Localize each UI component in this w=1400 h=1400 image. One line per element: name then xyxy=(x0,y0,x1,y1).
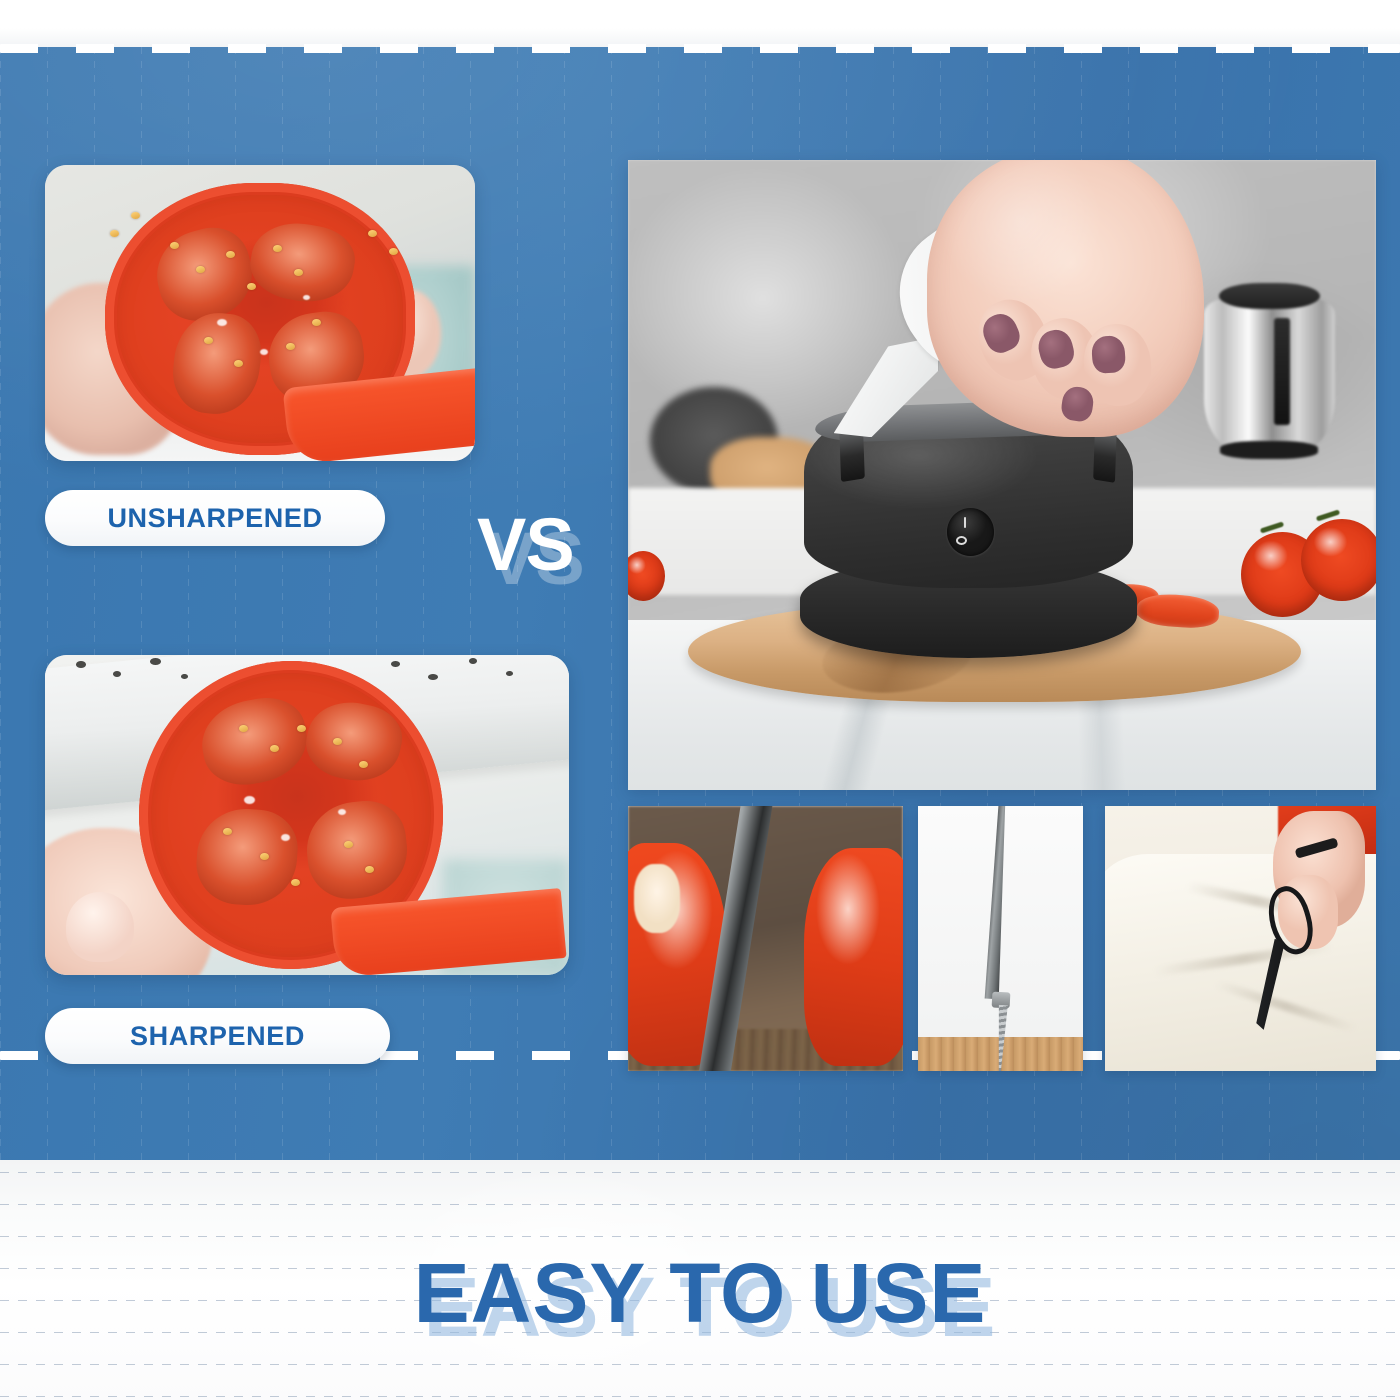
tomato-sliced-cleanly-photo xyxy=(45,655,569,975)
unsharpened-label-pill: UNSHARPENED xyxy=(45,490,385,546)
scissors-cutting-fabric-photo xyxy=(1105,806,1376,1071)
product-infographic-canvas: UNSHARPENED VS xyxy=(0,0,1400,1400)
sharpened-label-pill: SHARPENED xyxy=(45,1008,390,1064)
stainless-kettle-base xyxy=(1220,441,1317,459)
tomato-crushed-by-dull-knife-photo xyxy=(45,165,475,461)
stainless-kettle-handle xyxy=(1274,318,1290,425)
stainless-kettle-body xyxy=(1204,299,1335,450)
sharpened-label-text: SHARPENED xyxy=(130,1021,305,1052)
page-headline: EASY TO USE xyxy=(0,1248,1400,1338)
unsharpened-label-text: UNSHARPENED xyxy=(107,503,322,534)
unsharpened-photo-card xyxy=(45,165,475,461)
power-switch-on-marking xyxy=(964,517,966,528)
screwdriver-tip-and-screw-photo xyxy=(918,806,1083,1071)
top-white-strip xyxy=(0,0,1400,47)
versus-badge: VS xyxy=(477,505,622,585)
nail-polish xyxy=(1091,335,1126,374)
top-dashed-divider xyxy=(0,44,1400,53)
power-rocker-switch[interactable] xyxy=(947,508,994,556)
whole-tomato xyxy=(1301,519,1376,601)
sharpened-photo-card xyxy=(45,655,569,975)
electric-knife-sharpener-in-use-photo xyxy=(628,160,1376,790)
knife-slicing-red-bell-pepper-photo xyxy=(628,806,903,1071)
pepper-pith xyxy=(634,864,681,933)
stainless-kettle-lid xyxy=(1219,283,1320,309)
pepper-half-right xyxy=(804,848,903,1065)
